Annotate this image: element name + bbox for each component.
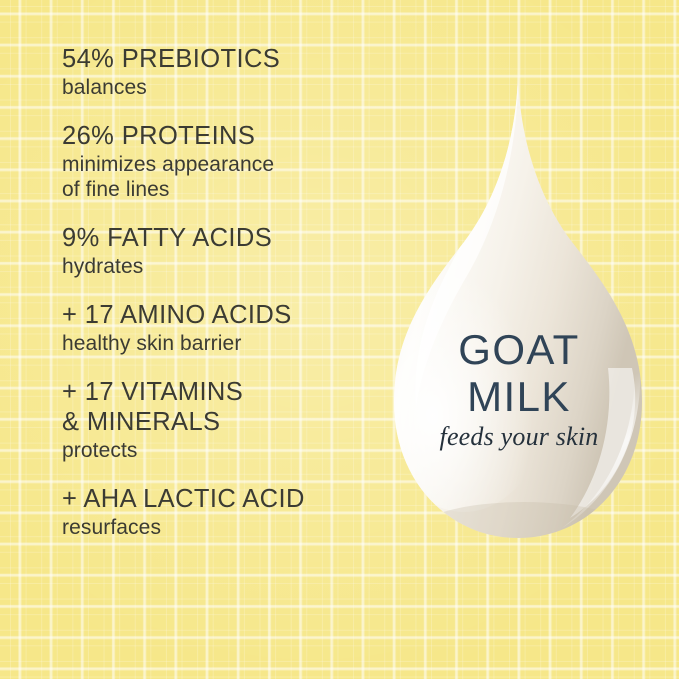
ingredient-description: protects [62,438,392,463]
ingredient-title: 54% PREBIOTICS [62,44,392,74]
ingredient-description: resurfaces [62,515,392,540]
ingredient-item: + 17 AMINO ACIDS healthy skin barrier [62,300,392,356]
ingredient-description: hydrates [62,254,392,279]
goat-milk-ingredient-infographic: 54% PREBIOTICS balances 26% PROTEINS min… [0,0,679,679]
ingredient-title: + 17 AMINO ACIDS [62,300,392,330]
ingredient-description: balances [62,75,392,100]
ingredient-title: + AHA LACTIC ACID [62,484,392,514]
ingredient-title: + 17 VITAMINS & MINERALS [62,377,392,437]
milk-droplet-illustration [386,62,652,548]
ingredient-description: healthy skin barrier [62,331,392,356]
ingredient-item: + 17 VITAMINS & MINERALS protects [62,377,392,463]
ingredient-title: 26% PROTEINS [62,121,392,151]
ingredient-item: + AHA LACTIC ACID resurfaces [62,484,392,540]
ingredient-description: minimizes appearance of fine lines [62,152,392,202]
ingredient-list: 54% PREBIOTICS balances 26% PROTEINS min… [62,44,392,561]
ingredient-item: 9% FATTY ACIDS hydrates [62,223,392,279]
ingredient-item: 26% PROTEINS minimizes appearance of fin… [62,121,392,202]
ingredient-title: 9% FATTY ACIDS [62,223,392,253]
milk-droplet-icon [386,62,652,548]
ingredient-item: 54% PREBIOTICS balances [62,44,392,100]
